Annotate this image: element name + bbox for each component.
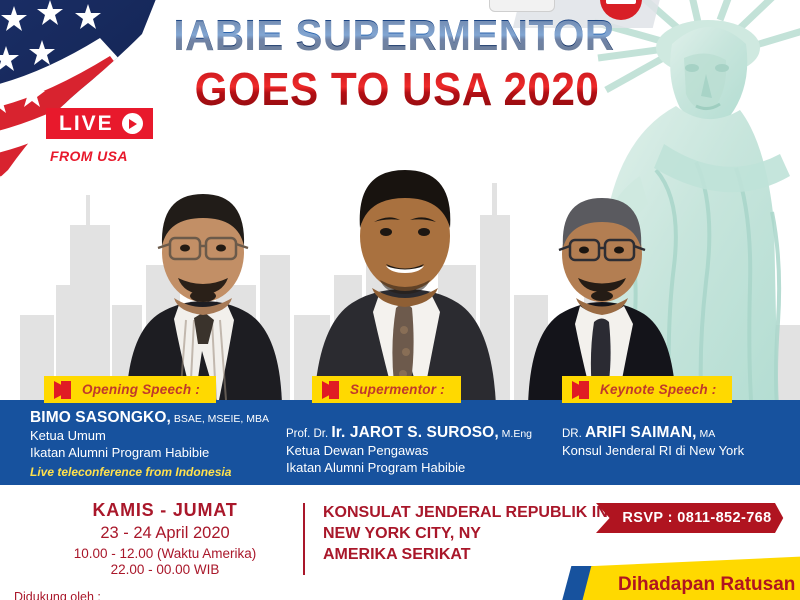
- speaker-photo-3: [512, 166, 692, 406]
- role-tag-label: Keynote Speech :: [600, 382, 716, 397]
- speaker-info-2: Prof. Dr. Ir. JAROT S. SUROSO, M.Eng Ket…: [286, 424, 532, 476]
- speaker-role-line-3: Konsul Jenderal RI di New York: [562, 442, 744, 459]
- role-tag-supermentor: Supermentor :: [312, 376, 461, 403]
- vertical-divider: [303, 503, 305, 575]
- speaker-role-line-2: Ketua Dewan Pengawas: [286, 442, 532, 459]
- arrow-icon: [322, 381, 339, 399]
- speaker-name-main: Ir. JAROT S. SUROSO,: [331, 424, 498, 441]
- banner-text: Dihadapan Ratusan: [618, 574, 795, 596]
- role-tag-label: Opening Speech :: [82, 382, 200, 397]
- rsvp-text: RSVP : 0811-852-768: [614, 510, 771, 526]
- speaker-info-3: DR. ARIFI SAIMAN, MA Konsul Jenderal RI …: [562, 424, 744, 459]
- speaker-info-1: BIMO SASONGKO, BSAE, MSEIE, MBA Ketua Um…: [30, 409, 269, 479]
- speaker-name-1: BIMO SASONGKO, BSAE, MSEIE, MBA: [30, 409, 269, 427]
- poster-title: IABIE SUPERMENTOR GOES TO USA 2020: [0, 14, 800, 112]
- arrow-icon: [572, 381, 589, 399]
- speaker-role-line-1: Ketua Umum: [30, 427, 269, 444]
- speaker-org-line-2: Ikatan Alumni Program Habibie: [286, 459, 532, 476]
- speaker-name-suffix: BSAE, MSEIE, MBA: [171, 413, 269, 425]
- event-date-block: KAMIS - JUMAT 23 - 24 April 2020 10.00 -…: [40, 500, 290, 577]
- speaker-name-prefix: DR.: [562, 428, 585, 440]
- role-tag-label: Supermentor :: [350, 382, 445, 397]
- supported-by-label: Didukung oleh :: [14, 590, 101, 600]
- partial-logo-red-inner: [606, 0, 636, 4]
- event-time-us: 10.00 - 12.00 (Waktu Amerika): [40, 546, 290, 561]
- event-date: 23 - 24 April 2020: [40, 524, 290, 543]
- event-time-wib: 22.00 - 00.00 WIB: [40, 562, 290, 577]
- play-icon: [122, 113, 143, 134]
- speaker-name-3: DR. ARIFI SAIMAN, MA: [562, 424, 744, 442]
- speaker-name-main: ARIFI SAIMAN,: [585, 424, 697, 441]
- speaker-org-line-1: Ikatan Alumni Program Habibie: [30, 444, 269, 461]
- event-day: KAMIS - JUMAT: [40, 500, 290, 521]
- role-tag-opening-speech: Opening Speech :: [44, 376, 216, 403]
- speaker-note-1: Live teleconference from Indonesia: [30, 465, 269, 479]
- speaker-name-2: Prof. Dr. Ir. JAROT S. SUROSO, M.Eng: [286, 424, 532, 442]
- event-poster: IABIE SUPERMENTOR GOES TO USA 2020 LIVE …: [0, 0, 800, 600]
- speaker-name-suffix: M.Eng: [499, 428, 532, 440]
- speaker-name-suffix: MA: [697, 428, 716, 440]
- rsvp-ribbon[interactable]: RSVP : 0811-852-768: [596, 503, 790, 533]
- live-badge: LIVE: [46, 108, 153, 139]
- role-tag-keynote-speech: Keynote Speech :: [562, 376, 732, 403]
- arrow-icon: [54, 381, 71, 399]
- dihadapan-banner: Dihadapan Ratusan: [560, 556, 800, 600]
- title-line-1: IABIE SUPERMENTOR: [20, 14, 767, 58]
- speaker-name-prefix: Prof. Dr.: [286, 428, 331, 440]
- speaker-photo-2: [300, 140, 510, 405]
- title-line-2: GOES TO USA 2020: [26, 66, 768, 112]
- speaker-name-main: BIMO SASONGKO,: [30, 409, 171, 426]
- live-label: LIVE: [59, 113, 114, 134]
- speaker-photo-1: [108, 160, 298, 405]
- live-sub-label: FROM USA: [50, 148, 128, 164]
